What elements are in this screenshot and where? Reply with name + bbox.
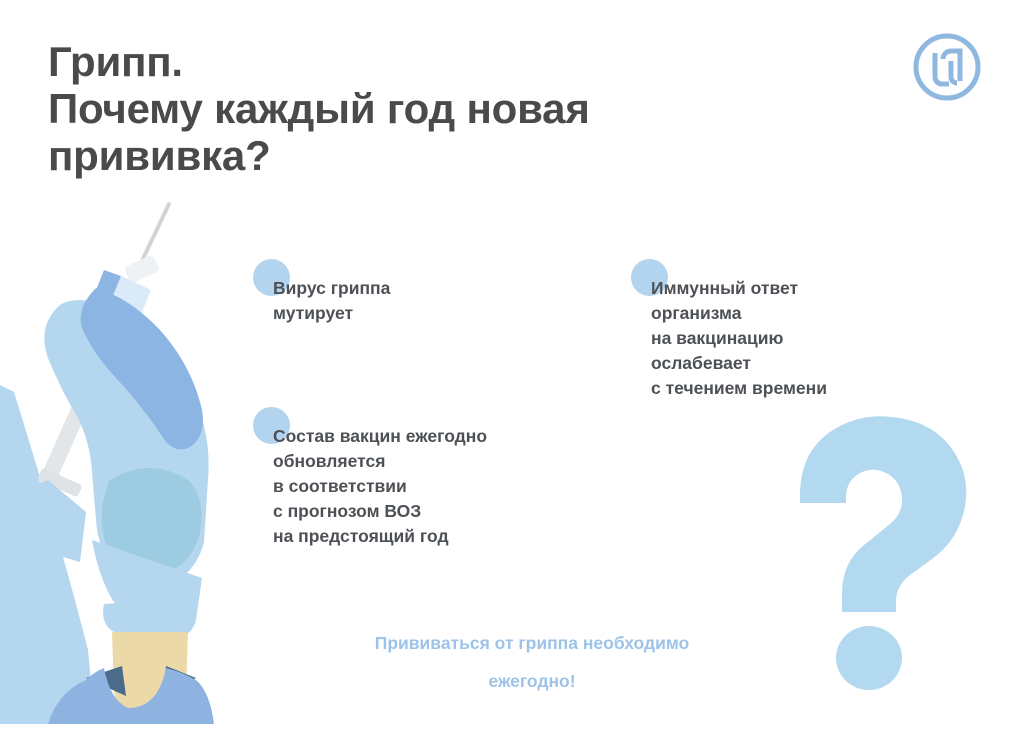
- monogram-logo-icon: [913, 33, 981, 101]
- bullet-immune-response: Иммунный ответ организма на вакцинацию о…: [631, 259, 961, 401]
- page-title: Грипп. Почему каждый год новая прививка?: [48, 38, 688, 179]
- question-mark-icon: [786, 415, 986, 690]
- tagline-text: Прививаться от гриппа необходимо ежегодн…: [262, 624, 802, 700]
- company-logo: [913, 33, 981, 101]
- gloved-hand-syringe-illustration: [0, 180, 250, 724]
- bullet-virus-mutates-text: Вирус гриппа мутирует: [273, 259, 573, 326]
- bullet-immune-response-text: Иммунный ответ организма на вакцинацию о…: [651, 259, 961, 401]
- infographic-canvas: Грипп. Почему каждый год новая прививка?: [0, 0, 1024, 724]
- bullet-virus-mutates: Вирус гриппа мутирует: [253, 259, 573, 326]
- bullet-vaccine-composition-text: Состав вакцин ежегодно обновляется в соо…: [273, 407, 603, 549]
- illustration-svg: [0, 180, 250, 724]
- question-mark-decoration: [786, 415, 986, 690]
- bullet-vaccine-composition: Состав вакцин ежегодно обновляется в соо…: [253, 407, 603, 549]
